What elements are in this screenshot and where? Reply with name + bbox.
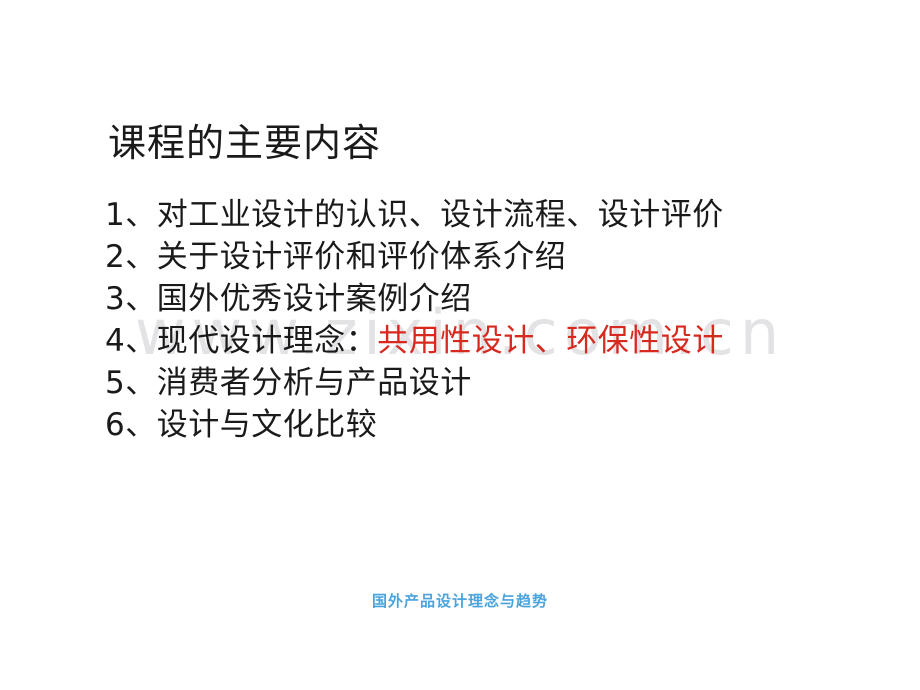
list-item-label: 消费者分析与产品设计 — [157, 365, 472, 401]
list-item-number: 6、 — [105, 407, 157, 443]
list-item: 1、对工业设计的认识、设计流程、设计评价 — [105, 194, 865, 236]
list-item-number: 4、 — [105, 323, 157, 359]
list-item-number: 3、 — [105, 281, 157, 317]
list-item-highlight: 共用性设计、环保性设计 — [377, 323, 724, 359]
list-item: 2、关于设计评价和评价体系介绍 — [105, 236, 865, 278]
list-item: 3、国外优秀设计案例介绍 — [105, 278, 865, 320]
list-item-number: 1、 — [105, 197, 157, 233]
list-item: 6、设计与文化比较 — [105, 404, 865, 446]
list-item-label: 关于设计评价和评价体系介绍 — [157, 239, 567, 275]
list-item-label: 现代设计理念： — [157, 323, 378, 359]
slide-canvas: www.zixin.com.cn 课程的主要内容 1、对工业设计的认识、设计流程… — [0, 0, 920, 690]
list-item-label: 国外优秀设计案例介绍 — [157, 281, 472, 317]
list-item-number: 5、 — [105, 365, 157, 401]
page-title: 课程的主要内容 — [108, 123, 381, 165]
list-item: 4、现代设计理念：共用性设计、环保性设计 — [105, 320, 865, 362]
list-item-number: 2、 — [105, 239, 157, 275]
list-item: 5、消费者分析与产品设计 — [105, 362, 865, 404]
list-item-label: 设计与文化比较 — [157, 407, 378, 443]
list-item-label: 对工业设计的认识、设计流程、设计评价 — [157, 197, 724, 233]
content-outline-list: 1、对工业设计的认识、设计流程、设计评价 2、关于设计评价和评价体系介绍 3、国… — [105, 194, 865, 446]
slide-footer: 国外产品设计理念与趋势 — [0, 590, 920, 611]
